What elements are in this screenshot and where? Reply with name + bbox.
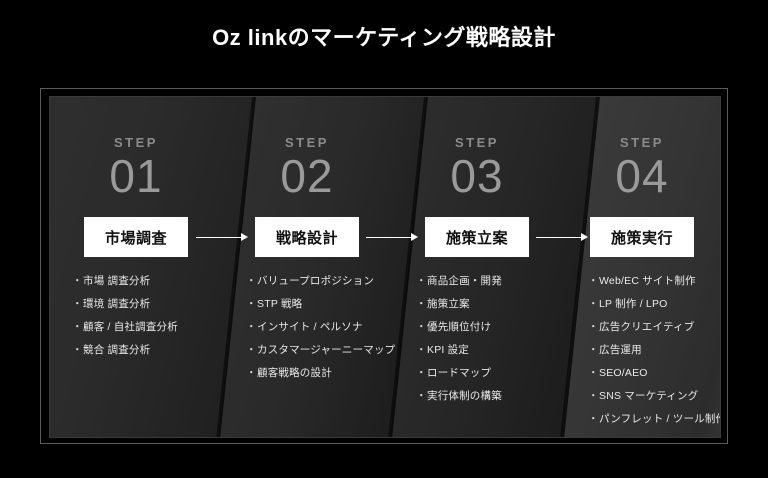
list-item: ・バリュープロポジション [246, 275, 384, 288]
list-item: ・広告運用 [588, 344, 714, 357]
list-item: ・優先順位付け [416, 321, 554, 334]
step-number-02: 02 [222, 149, 392, 203]
list-item: ・Web/EC サイト制作 [588, 275, 714, 288]
step-box-02[interactable]: 戦略設計 [255, 217, 359, 257]
bullet-dot-icon: ・ [72, 321, 83, 334]
bullet-dot-icon: ・ [246, 367, 257, 380]
step-number-03: 03 [392, 149, 562, 203]
list-item-label: Web/EC サイト制作 [599, 275, 696, 287]
list-item-label: 顧客戦略の設計 [257, 367, 332, 379]
bullet-dot-icon: ・ [416, 344, 427, 357]
step-columns: STEP 01 市場調査 ・市場 調査分析 ・環境 調査分析 ・顧客 / 自社調… [50, 97, 720, 437]
list-item-label: SEO/AEO [599, 367, 648, 379]
bullet-dot-icon: ・ [416, 367, 427, 380]
step-label-04: STEP [562, 135, 721, 150]
bullet-dot-icon: ・ [246, 344, 257, 357]
list-item: ・STP 戦略 [246, 298, 384, 311]
list-item: ・顧客 / 自社調査分析 [72, 321, 214, 334]
list-item: ・競合 調査分析 [72, 344, 214, 357]
list-item-label: 優先順位付け [427, 321, 491, 333]
arrow-head [581, 233, 588, 241]
arrow-step-03-to-04-icon [536, 236, 588, 238]
step-label-02: STEP [222, 135, 392, 150]
diagram-frame-inner: STEP 01 市場調査 ・市場 調査分析 ・環境 調査分析 ・顧客 / 自社調… [49, 96, 721, 438]
arrow-head [411, 233, 418, 241]
bullet-dot-icon: ・ [416, 321, 427, 334]
list-item-label: STP 戦略 [257, 298, 302, 310]
arrow-shaft [366, 237, 411, 238]
bullet-dot-icon: ・ [588, 390, 599, 403]
step-box-04[interactable]: 施策実行 [590, 217, 694, 257]
list-item-label: 施策立案 [427, 298, 470, 310]
bullet-dot-icon: ・ [588, 413, 599, 426]
list-item: ・施策立案 [416, 298, 554, 311]
list-item-label: 広告クリエイティブ [599, 321, 694, 333]
list-item-label: パンフレット / ツール制作 [599, 413, 721, 425]
list-item: ・広告クリエイティブ [588, 321, 714, 334]
list-item-label: 競合 調査分析 [83, 344, 150, 356]
list-item: ・LP 制作 / LPO [588, 298, 714, 311]
bullet-dot-icon: ・ [246, 321, 257, 334]
step-number-04: 04 [562, 149, 721, 203]
list-item-label: カスタマージャーニーマップ [257, 344, 395, 356]
step-column-04: STEP 04 施策実行 ・Web/EC サイト制作 ・LP 制作 / LPO … [562, 97, 721, 438]
arrow-shaft [536, 237, 581, 238]
step-column-03: STEP 03 施策立案 ・商品企画・開発 ・施策立案 ・優先順位付け ・KPI… [392, 97, 562, 438]
list-item-label: インサイト / ペルソナ [257, 321, 363, 333]
bullet-dot-icon: ・ [588, 298, 599, 311]
step-box-03[interactable]: 施策立案 [425, 217, 529, 257]
list-item-label: ロードマップ [427, 367, 491, 379]
list-item: ・商品企画・開発 [416, 275, 554, 288]
bullet-list-02: ・バリュープロポジション ・STP 戦略 ・インサイト / ペルソナ ・カスタマ… [246, 275, 384, 390]
list-item-label: バリュープロポジション [257, 275, 374, 287]
arrow-head [241, 233, 248, 241]
step-number-01: 01 [50, 149, 222, 203]
list-item: ・KPI 設定 [416, 344, 554, 357]
list-item: ・環境 調査分析 [72, 298, 214, 311]
bullet-dot-icon: ・ [588, 367, 599, 380]
list-item: ・SEO/AEO [588, 367, 714, 380]
list-item-label: 環境 調査分析 [83, 298, 150, 310]
bullet-list-04: ・Web/EC サイト制作 ・LP 制作 / LPO ・広告クリエイティブ ・広… [588, 275, 714, 436]
list-item-label: 実行体制の構築 [427, 390, 502, 402]
list-item: ・カスタマージャーニーマップ [246, 344, 384, 357]
bullet-dot-icon: ・ [416, 298, 427, 311]
bullet-dot-icon: ・ [246, 275, 257, 288]
page-title: Oz linkのマーケティング戦略設計 [0, 24, 768, 52]
bullet-dot-icon: ・ [588, 344, 599, 357]
list-item-label: SNS マーケティング [599, 390, 698, 402]
arrow-step-02-to-03-icon [366, 236, 418, 238]
list-item-label: 広告運用 [599, 344, 642, 356]
list-item: ・SNS マーケティング [588, 390, 714, 403]
list-item: ・インサイト / ペルソナ [246, 321, 384, 334]
arrow-step-01-to-02-icon [196, 236, 248, 238]
bullet-dot-icon: ・ [416, 390, 427, 403]
list-item-label: LP 制作 / LPO [599, 298, 668, 310]
list-item-label: KPI 設定 [427, 344, 469, 356]
list-item-label: 市場 調査分析 [83, 275, 150, 287]
bullet-dot-icon: ・ [588, 275, 599, 288]
arrow-shaft [196, 237, 241, 238]
bullet-dot-icon: ・ [588, 321, 599, 334]
list-item: ・ロードマップ [416, 367, 554, 380]
bullet-list-03: ・商品企画・開発 ・施策立案 ・優先順位付け ・KPI 設定 ・ロードマップ ・… [416, 275, 554, 413]
step-label-01: STEP [50, 135, 222, 150]
step-box-01[interactable]: 市場調査 [84, 217, 188, 257]
list-item: ・パンフレット / ツール制作 [588, 413, 714, 426]
step-column-01: STEP 01 市場調査 ・市場 調査分析 ・環境 調査分析 ・顧客 / 自社調… [50, 97, 222, 438]
step-label-03: STEP [392, 135, 562, 150]
bullet-dot-icon: ・ [72, 275, 83, 288]
list-item-label: 商品企画・開発 [427, 275, 502, 287]
bullet-dot-icon: ・ [416, 275, 427, 288]
step-column-02: STEP 02 戦略設計 ・バリュープロポジション ・STP 戦略 ・インサイト… [222, 97, 392, 438]
list-item: ・実行体制の構築 [416, 390, 554, 403]
bullet-dot-icon: ・ [246, 298, 257, 311]
bullet-dot-icon: ・ [72, 344, 83, 357]
diagram-frame-outer: STEP 01 市場調査 ・市場 調査分析 ・環境 調査分析 ・顧客 / 自社調… [40, 88, 728, 444]
slide-root: Oz linkのマーケティング戦略設計 [0, 0, 768, 478]
list-item: ・市場 調査分析 [72, 275, 214, 288]
list-item: ・顧客戦略の設計 [246, 367, 384, 380]
bullet-list-01: ・市場 調査分析 ・環境 調査分析 ・顧客 / 自社調査分析 ・競合 調査分析 [72, 275, 214, 367]
bullet-dot-icon: ・ [72, 298, 83, 311]
list-item-label: 顧客 / 自社調査分析 [83, 321, 178, 333]
